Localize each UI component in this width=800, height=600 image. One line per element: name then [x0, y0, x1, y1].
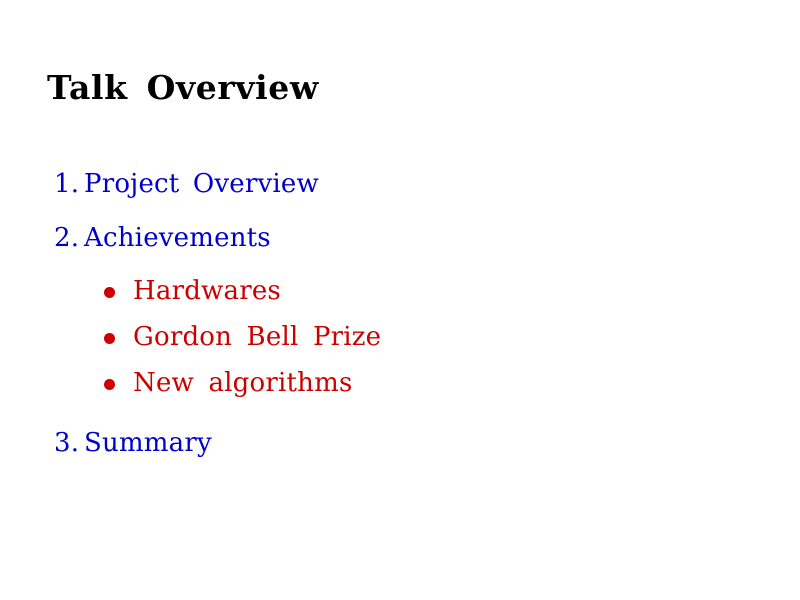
- sub-list-item-gordon-bell-prize[interactable]: Gordon Bell Prize: [104, 322, 381, 368]
- outline-item-2-number: 2.: [54, 222, 84, 254]
- achievements-sub-list: Hardwares Gordon Bell Prize New algorith…: [104, 276, 381, 414]
- outline-item-2-label: Achievements: [84, 223, 271, 253]
- disc-bullet-icon: [104, 379, 115, 390]
- sub-list-item-gordon-bell-prize-label: Gordon Bell Prize: [104, 322, 381, 352]
- disc-bullet-icon: [104, 287, 115, 298]
- outline-item-1[interactable]: 1.Project Overview: [54, 168, 319, 200]
- disc-bullet-icon: [104, 333, 115, 344]
- page-title: Talk Overview: [47, 68, 319, 108]
- outline-item-1-label: Project Overview: [84, 169, 319, 199]
- sub-list-item-hardwares-label: Hardwares: [104, 276, 281, 306]
- presentation-slide: Talk Overview 1.Project Overview 2.Achie…: [0, 0, 800, 600]
- outline-item-3-label: Summary: [84, 428, 212, 458]
- outline-item-2[interactable]: 2.Achievements: [54, 222, 271, 254]
- sub-list-item-new-algorithms-label: New algorithms: [104, 368, 353, 398]
- sub-list-item-hardwares[interactable]: Hardwares: [104, 276, 381, 322]
- outline-item-3[interactable]: 3.Summary: [54, 427, 212, 459]
- outline-item-1-number: 1.: [54, 168, 84, 200]
- outline-item-3-number: 3.: [54, 427, 84, 459]
- sub-list-item-new-algorithms[interactable]: New algorithms: [104, 368, 381, 414]
